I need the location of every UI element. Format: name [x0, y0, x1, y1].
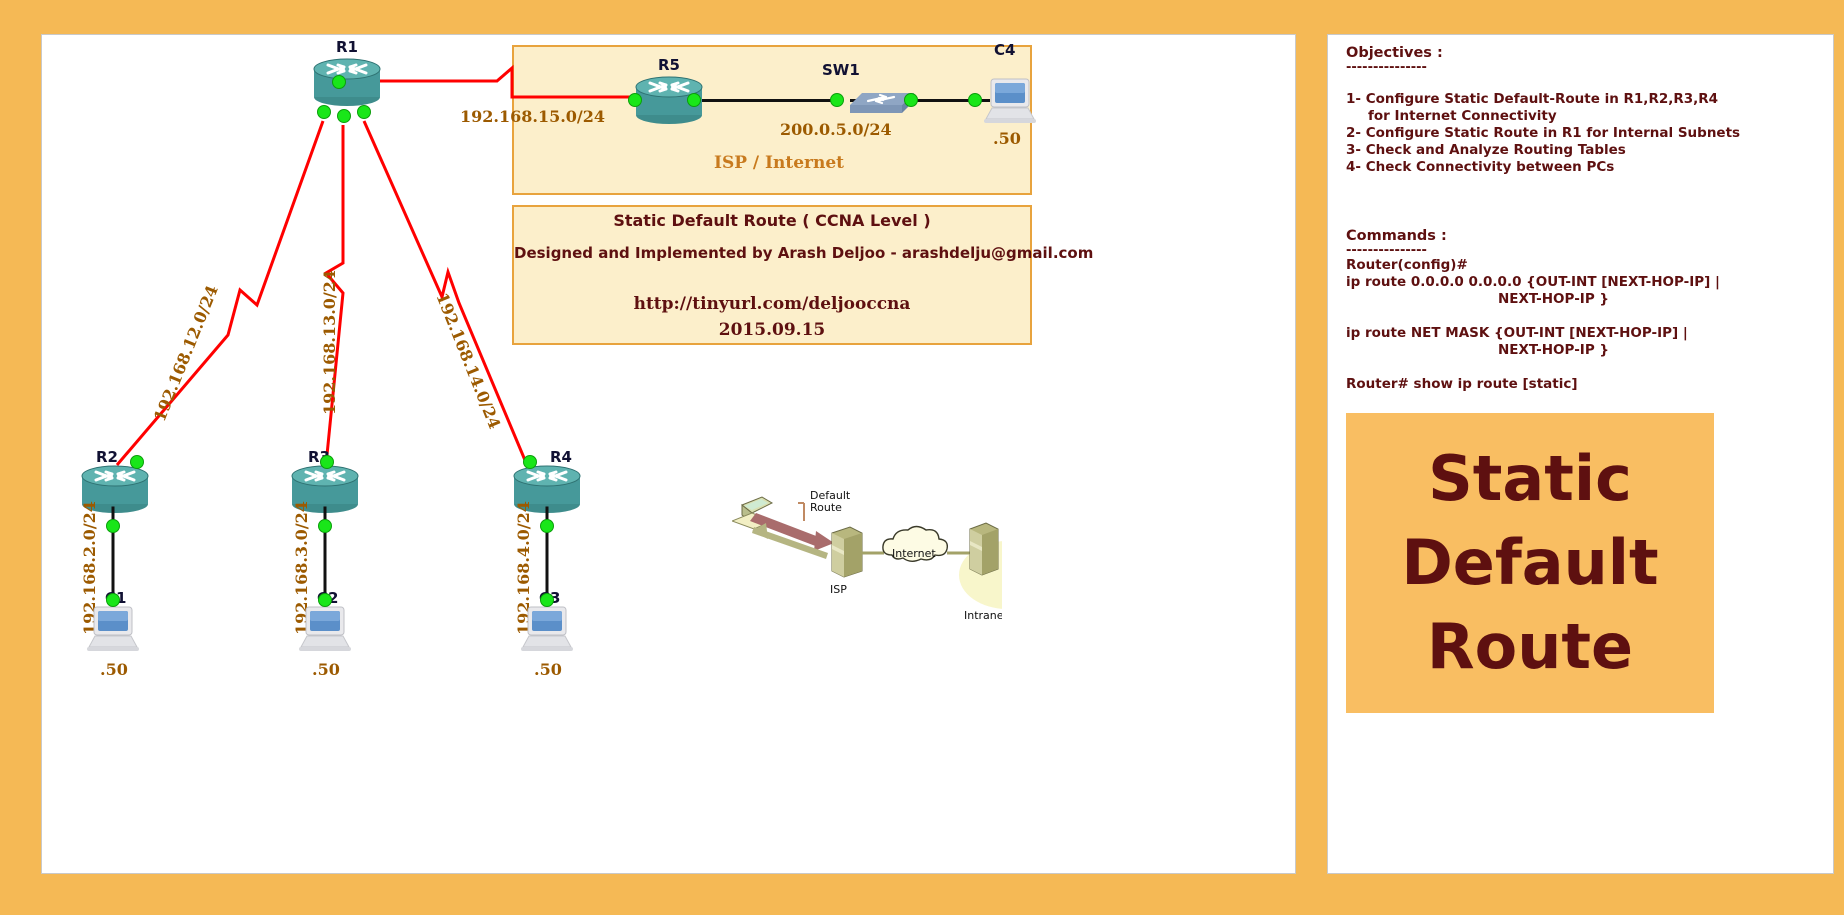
link-dot-sw1-c4	[904, 93, 918, 107]
clipart-internet-label: Internet	[892, 547, 936, 560]
title-block: Static Default Route	[1346, 413, 1714, 713]
switch-sw1-label: SW1	[822, 61, 860, 79]
objectives-and-commands: Objectives : --------------- 1- Configur…	[1346, 45, 1816, 393]
commands-prompt-config: Router(config)#	[1346, 257, 1816, 274]
clipart-route-label: Route	[810, 501, 842, 514]
notes-panel: Objectives : --------------- 1- Configur…	[1327, 34, 1834, 874]
subnet-label-isp-lan: 200.0.5.0/24	[780, 120, 892, 139]
pc-c3-icon[interactable]	[519, 605, 575, 655]
clipart-intranet-label: Intranet	[964, 609, 1002, 622]
objective-item-2: 2- Configure Static Route in R1 for Inte…	[1346, 125, 1816, 142]
link-dot-sw1-uplink	[830, 93, 844, 107]
pc-c2-host: .50	[312, 660, 340, 679]
link-dot-c4	[968, 93, 982, 107]
pc-c4-host: .50	[993, 129, 1021, 148]
title-line-2: Default	[1401, 521, 1658, 605]
link-dot-c3	[540, 593, 554, 607]
command-static-route: ip route NET MASK {OUT-INT [NEXT-HOP-IP]…	[1346, 325, 1816, 342]
objective-item-3: 3- Check and Analyze Routing Tables	[1346, 142, 1816, 159]
pc-c1-icon[interactable]	[85, 605, 141, 655]
link-dot-r3-lan	[318, 519, 332, 533]
title-line-3: Route	[1427, 605, 1633, 689]
command-default-route: ip route 0.0.0.0 0.0.0.0 {OUT-INT [NEXT-…	[1346, 274, 1816, 291]
pc-c4-label: C4	[994, 41, 1015, 59]
pc-c3-host: .50	[534, 660, 562, 679]
serial-link-r1-r4	[42, 35, 662, 505]
link-dot-r5-lan	[687, 93, 701, 107]
command-show-ip-route: Router# show ip route [static]	[1346, 376, 1816, 393]
link-dot-c2	[318, 593, 332, 607]
link-dot-r3-wan	[320, 455, 334, 469]
objective-item-1: 1- Configure Static Default-Route in R1,…	[1346, 91, 1816, 108]
objectives-rule: ---------------	[1346, 62, 1816, 74]
command-static-route-cont: NEXT-HOP-IP }	[1346, 342, 1816, 359]
router-r4-label: R4	[550, 448, 572, 466]
subnet-label-r1-r3: 192.168.13.0/24	[320, 270, 339, 415]
pc-c2-icon[interactable]	[297, 605, 353, 655]
pc-c4-icon[interactable]	[982, 77, 1038, 127]
link-dot-c1	[106, 593, 120, 607]
isp-internet-caption: ISP / Internet	[714, 153, 844, 173]
commands-rule: ---------------	[1346, 245, 1816, 257]
objective-item-4: 4- Check Connectivity between PCs	[1346, 159, 1816, 176]
link-dot-r4-wan	[523, 455, 537, 469]
link-dot-r2-wan	[130, 455, 144, 469]
clipart-isp-server-icon	[832, 527, 862, 577]
command-default-route-cont: NEXT-HOP-IP }	[1346, 291, 1816, 308]
default-route-illustration: Default Route ISP Internet	[732, 483, 1002, 623]
pc-c1-host: .50	[100, 660, 128, 679]
diagram-page: R1 192.168.15.0/24 R5	[0, 0, 1844, 915]
title-line-1: Static	[1428, 437, 1632, 521]
topology-canvas: R1 192.168.15.0/24 R5	[41, 34, 1296, 874]
link-dot-r2-lan	[106, 519, 120, 533]
clipart-isp-label: ISP	[830, 583, 847, 596]
clipart-intranet-server-icon	[970, 523, 998, 575]
router-r2-label: R2	[96, 448, 118, 466]
link-dot-r4-lan	[540, 519, 554, 533]
objective-item-1-cont: for Internet Connectivity	[1346, 108, 1816, 125]
